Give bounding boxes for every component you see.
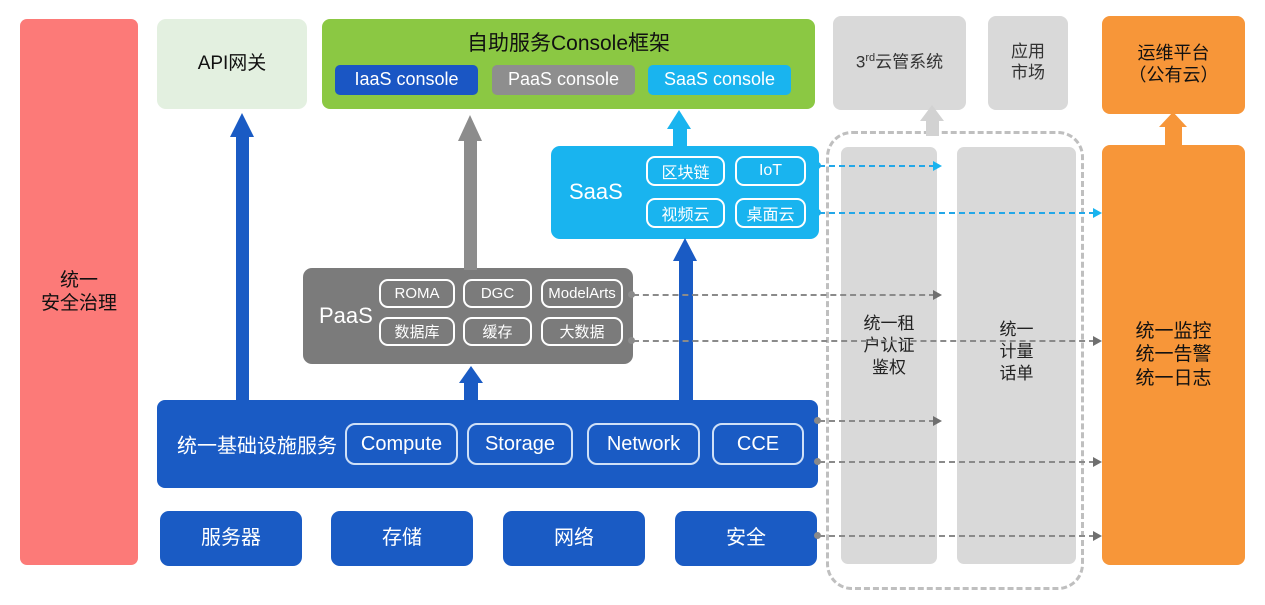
paas-item-bigdata[interactable]: 大数据 — [541, 317, 623, 346]
ops-platform-box[interactable]: 运维平台 （公有云） — [1102, 16, 1245, 114]
infra-item-storage-label: Storage — [485, 433, 555, 456]
app-market-line2: 市场 — [1011, 63, 1045, 84]
saas-item-videocloud[interactable]: 视频云 — [646, 198, 725, 228]
paas-item-dgc[interactable]: DGC — [463, 279, 532, 308]
saas-label: SaaS — [569, 179, 623, 205]
api-gateway-label: API网关 — [198, 52, 267, 75]
arrow-shared-to-third-party-shaft — [926, 120, 939, 136]
metering-line2: 计量 — [957, 341, 1076, 363]
infra-item-compute-label: Compute — [361, 433, 442, 456]
hardware-security-label: 安全 — [726, 526, 766, 550]
connector-head-infra-1 — [933, 416, 942, 426]
connector-head-saas-2 — [1093, 208, 1102, 218]
api-gateway-box[interactable]: API网关 — [157, 19, 307, 109]
infrastructure-bar: 统一基础设施服务 Compute Storage Network CCE — [157, 400, 818, 488]
arrow-infra-to-api-gateway-shaft — [236, 136, 249, 401]
arrow-paas-to-console-head — [458, 115, 482, 141]
paas-console-chip[interactable]: PaaS console — [492, 65, 635, 95]
paas-item-modelarts[interactable]: ModelArts — [541, 279, 623, 308]
iaas-console-label: IaaS console — [354, 69, 458, 91]
saas-console-chip[interactable]: SaaS console — [648, 65, 791, 95]
unified-tenant-auth-column[interactable]: 统一租 户认证 鉴权 — [841, 147, 937, 564]
third-party-cloud-mgmt-box[interactable]: 3rd云管系统 — [833, 16, 966, 110]
hardware-network-box[interactable]: 网络 — [503, 511, 645, 566]
security-governance-line1: 统一 — [41, 269, 117, 292]
hardware-storage-label: 存储 — [382, 526, 422, 550]
connector-head-paas-1 — [933, 290, 942, 300]
security-governance-column: 统一 安全治理 — [20, 19, 138, 565]
tenant-auth-line3: 鉴权 — [841, 357, 937, 379]
saas-item-iot-label: IoT — [759, 162, 782, 180]
architecture-diagram: 统一 安全治理 API网关 自助服务Console框架 IaaS console… — [0, 0, 1265, 605]
arrow-saas-to-console-head — [667, 110, 691, 129]
connector-head-saas-1 — [933, 161, 942, 171]
tenant-auth-line2: 户认证 — [841, 335, 937, 357]
paas-block: PaaS ROMA DGC ModelArts 数据库 缓存 大数据 — [303, 268, 633, 364]
unified-metering-label: 统一 计量 话单 — [957, 319, 1076, 385]
third-party-cloud-mgmt-label: 3rd云管系统 — [856, 52, 943, 73]
arrow-infra-to-api-gateway-head — [230, 113, 254, 137]
hardware-storage-box[interactable]: 存储 — [331, 511, 473, 566]
paas-item-bigdata-label: 大数据 — [559, 321, 604, 342]
arrow-saas-to-console-shaft — [673, 128, 687, 148]
saas-item-blockchain[interactable]: 区块链 — [646, 156, 725, 186]
connector-infra-to-ops — [819, 461, 1095, 463]
paas-item-modelarts-label: ModelArts — [548, 285, 616, 302]
metering-line3: 话单 — [957, 363, 1076, 385]
connector-hardware-to-ops — [819, 535, 1095, 537]
connector-saas-to-tenant-auth — [819, 165, 935, 167]
console-framework-box: 自助服务Console框架 IaaS console PaaS console … — [322, 19, 815, 109]
ops-column-line1: 统一监控 — [1135, 320, 1211, 343]
arrow-infra-to-saas-head — [673, 238, 697, 261]
hardware-network-label: 网络 — [554, 526, 594, 550]
arrow-infra-to-saas-shaft — [679, 260, 693, 402]
paas-item-database-label: 数据库 — [394, 321, 439, 342]
third-party-prefix: 3 — [856, 53, 865, 72]
arrow-paas-to-console-shaft — [464, 140, 477, 270]
hardware-server-box[interactable]: 服务器 — [160, 511, 302, 566]
console-framework-title: 自助服务Console框架 — [322, 31, 815, 57]
third-party-rest: 云管系统 — [875, 53, 943, 72]
ops-monitoring-column: 统一监控 统一告警 统一日志 — [1102, 145, 1245, 565]
infra-item-network-label: Network — [607, 433, 680, 456]
arrow-shared-to-third-party-head — [920, 105, 944, 121]
paas-item-cache[interactable]: 缓存 — [463, 317, 532, 346]
arrow-infra-to-paas-shaft — [464, 382, 478, 402]
hardware-security-box[interactable]: 安全 — [675, 511, 817, 566]
tenant-auth-line1: 统一租 — [841, 313, 937, 335]
connector-paas-to-tenant-auth — [633, 294, 935, 296]
paas-item-dgc-label: DGC — [481, 285, 514, 302]
connector-infra-to-tenant-auth — [819, 420, 935, 422]
saas-item-iot[interactable]: IoT — [735, 156, 806, 186]
app-market-box[interactable]: 应用 市场 — [988, 16, 1068, 110]
infra-item-cce[interactable]: CCE — [712, 423, 804, 465]
connector-paas-to-ops — [633, 340, 1095, 342]
arrow-infra-to-paas-head — [459, 366, 483, 383]
paas-item-roma-label: ROMA — [395, 285, 440, 302]
ops-column-line2: 统一告警 — [1135, 343, 1211, 366]
infra-item-network[interactable]: Network — [587, 423, 700, 465]
paas-item-cache-label: 缓存 — [482, 321, 512, 342]
connector-head-infra-2 — [1093, 457, 1102, 467]
paas-label: PaaS — [319, 303, 373, 329]
paas-item-roma[interactable]: ROMA — [379, 279, 455, 308]
unified-metering-column[interactable]: 统一 计量 话单 — [957, 147, 1076, 564]
arrow-ops-column-to-platform-shaft — [1165, 126, 1182, 145]
infra-item-compute[interactable]: Compute — [345, 423, 458, 465]
infra-item-cce-label: CCE — [737, 433, 779, 456]
saas-item-desktopcloud[interactable]: 桌面云 — [735, 198, 806, 228]
saas-item-blockchain-label: 区块链 — [661, 159, 709, 183]
hardware-server-label: 服务器 — [201, 526, 261, 550]
saas-console-label: SaaS console — [664, 69, 775, 91]
iaas-console-chip[interactable]: IaaS console — [335, 65, 478, 95]
arrow-ops-column-to-platform-head — [1159, 112, 1187, 127]
infra-item-storage[interactable]: Storage — [467, 423, 573, 465]
paas-item-database[interactable]: 数据库 — [379, 317, 455, 346]
unified-tenant-auth-label: 统一租 户认证 鉴权 — [841, 313, 937, 379]
paas-console-label: PaaS console — [508, 69, 619, 91]
infrastructure-label: 统一基础设施服务 — [177, 430, 337, 459]
app-market-line1: 应用 — [1011, 42, 1045, 63]
connector-saas-to-ops — [819, 212, 1095, 214]
security-governance-line2: 安全治理 — [41, 292, 117, 315]
third-party-sup: rd — [865, 52, 875, 64]
ops-platform-line1: 运维平台 — [1129, 43, 1219, 65]
saas-item-desktopcloud-label: 桌面云 — [746, 201, 794, 225]
connector-head-hardware — [1093, 531, 1102, 541]
metering-line1: 统一 — [957, 319, 1076, 341]
saas-item-videocloud-label: 视频云 — [661, 201, 709, 225]
connector-head-paas-2 — [1093, 336, 1102, 346]
ops-platform-line2: （公有云） — [1129, 65, 1219, 87]
ops-column-line3: 统一日志 — [1135, 367, 1211, 390]
saas-block: SaaS 区块链 IoT 视频云 桌面云 — [551, 146, 819, 239]
